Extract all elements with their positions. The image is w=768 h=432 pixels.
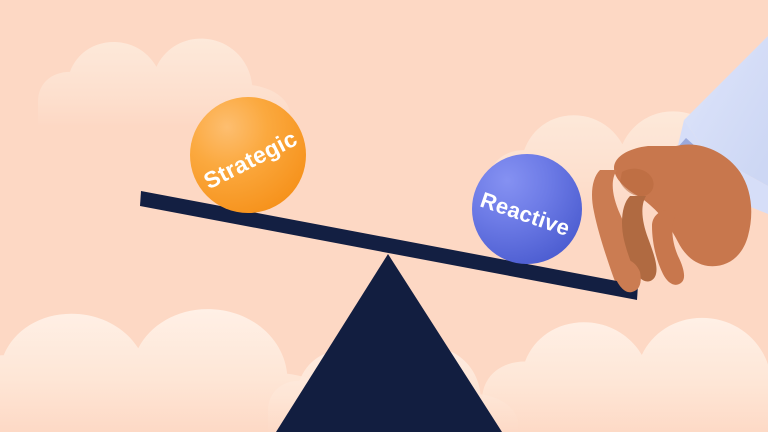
- balance-scale-illustration: Strategic vs Reactive Balance Scale A se…: [0, 0, 768, 432]
- weight-reactive[interactable]: Reactive: [472, 154, 582, 264]
- illustration-canvas: Strategic vs Reactive Balance Scale A se…: [0, 0, 768, 432]
- weight-strategic[interactable]: Strategic: [190, 97, 306, 213]
